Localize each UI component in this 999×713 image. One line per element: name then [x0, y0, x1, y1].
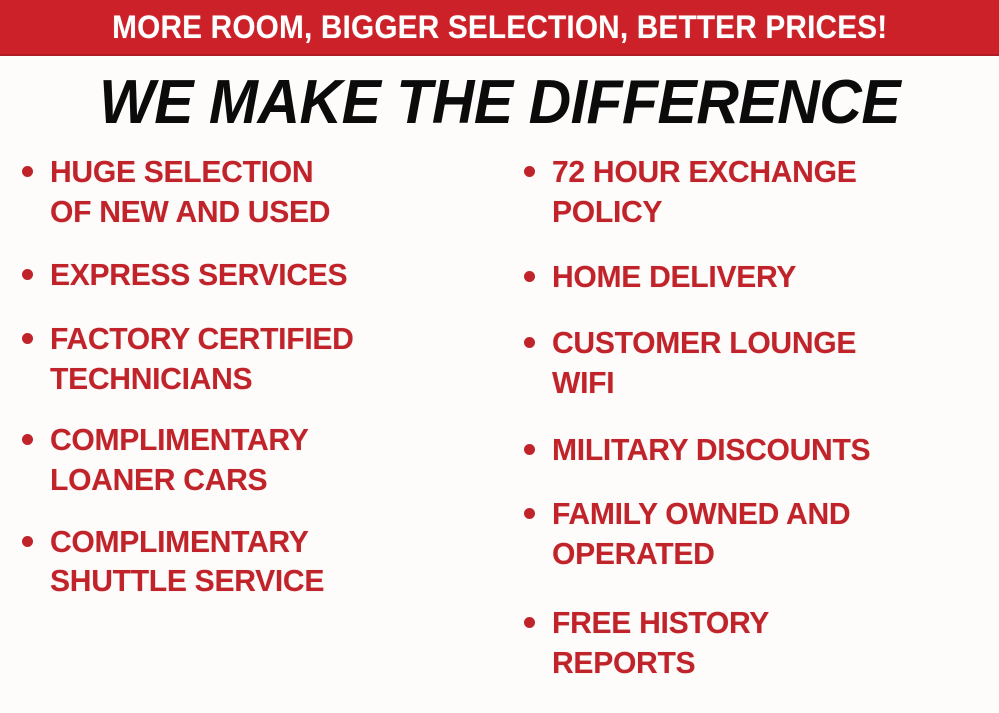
list-item: COMPLIMENTARY SHUTTLE SERVICE: [14, 522, 504, 601]
list-item: FACTORY CERTIFIED TECHNICIANS: [14, 319, 504, 398]
list-item-label: MILITARY DISCOUNTS: [552, 430, 986, 470]
bullet-dot-icon: [524, 508, 535, 519]
list-item-label: CUSTOMER LOUNGE WIFI: [552, 323, 986, 402]
promo-banner: MORE ROOM, BIGGER SELECTION, BETTER PRIC…: [0, 0, 999, 56]
list-item: MILITARY DISCOUNTS: [516, 430, 999, 470]
bullet-dot-icon: [524, 337, 535, 348]
list-item-label: FACTORY CERTIFIED TECHNICIANS: [50, 319, 490, 398]
bullet-dot-icon: [524, 166, 535, 177]
list-item: FAMILY OWNED AND OPERATED: [516, 494, 999, 573]
bullet-dot-icon: [22, 166, 33, 177]
list-item: COMPLIMENTARY LOANER CARS: [14, 420, 504, 499]
benefits-columns: HUGE SELECTION OF NEW AND USED EXPRESS S…: [0, 152, 999, 692]
list-item: EXPRESS SERVICES: [14, 255, 504, 295]
benefit-list-right: 72 HOUR EXCHANGE POLICY HOME DELIVERY CU…: [516, 152, 999, 683]
page-title: WE MAKE THE DIFFERENCE: [99, 72, 900, 134]
benefits-column-right: 72 HOUR EXCHANGE POLICY HOME DELIVERY CU…: [516, 152, 999, 713]
promo-banner-text: MORE ROOM, BIGGER SELECTION, BETTER PRIC…: [112, 11, 887, 43]
list-item-label: 72 HOUR EXCHANGE POLICY: [552, 152, 986, 231]
list-item-label: COMPLIMENTARY SHUTTLE SERVICE: [50, 522, 490, 601]
list-item-label: FAMILY OWNED AND OPERATED: [552, 494, 986, 573]
benefits-column-left: HUGE SELECTION OF NEW AND USED EXPRESS S…: [14, 152, 504, 631]
list-item-label: FREE HISTORY REPORTS: [552, 603, 986, 682]
bullet-dot-icon: [524, 617, 535, 628]
list-item: FREE HISTORY REPORTS: [516, 603, 999, 682]
list-item-label: HOME DELIVERY: [552, 257, 986, 297]
bullet-dot-icon: [22, 333, 33, 344]
headline-container: WE MAKE THE DIFFERENCE: [0, 66, 999, 140]
list-item: CUSTOMER LOUNGE WIFI: [516, 323, 999, 402]
list-item: 72 HOUR EXCHANGE POLICY: [516, 152, 999, 231]
benefit-list-left: HUGE SELECTION OF NEW AND USED EXPRESS S…: [14, 152, 504, 601]
bullet-dot-icon: [22, 434, 33, 445]
list-item-label: EXPRESS SERVICES: [50, 255, 490, 295]
bullet-dot-icon: [524, 271, 535, 282]
list-item: HUGE SELECTION OF NEW AND USED: [14, 152, 504, 231]
list-item: HOME DELIVERY: [516, 257, 999, 297]
bullet-dot-icon: [22, 269, 33, 280]
list-item-label: COMPLIMENTARY LOANER CARS: [50, 420, 490, 499]
list-item-label: HUGE SELECTION OF NEW AND USED: [50, 152, 490, 231]
bullet-dot-icon: [22, 536, 33, 547]
bullet-dot-icon: [524, 444, 535, 455]
